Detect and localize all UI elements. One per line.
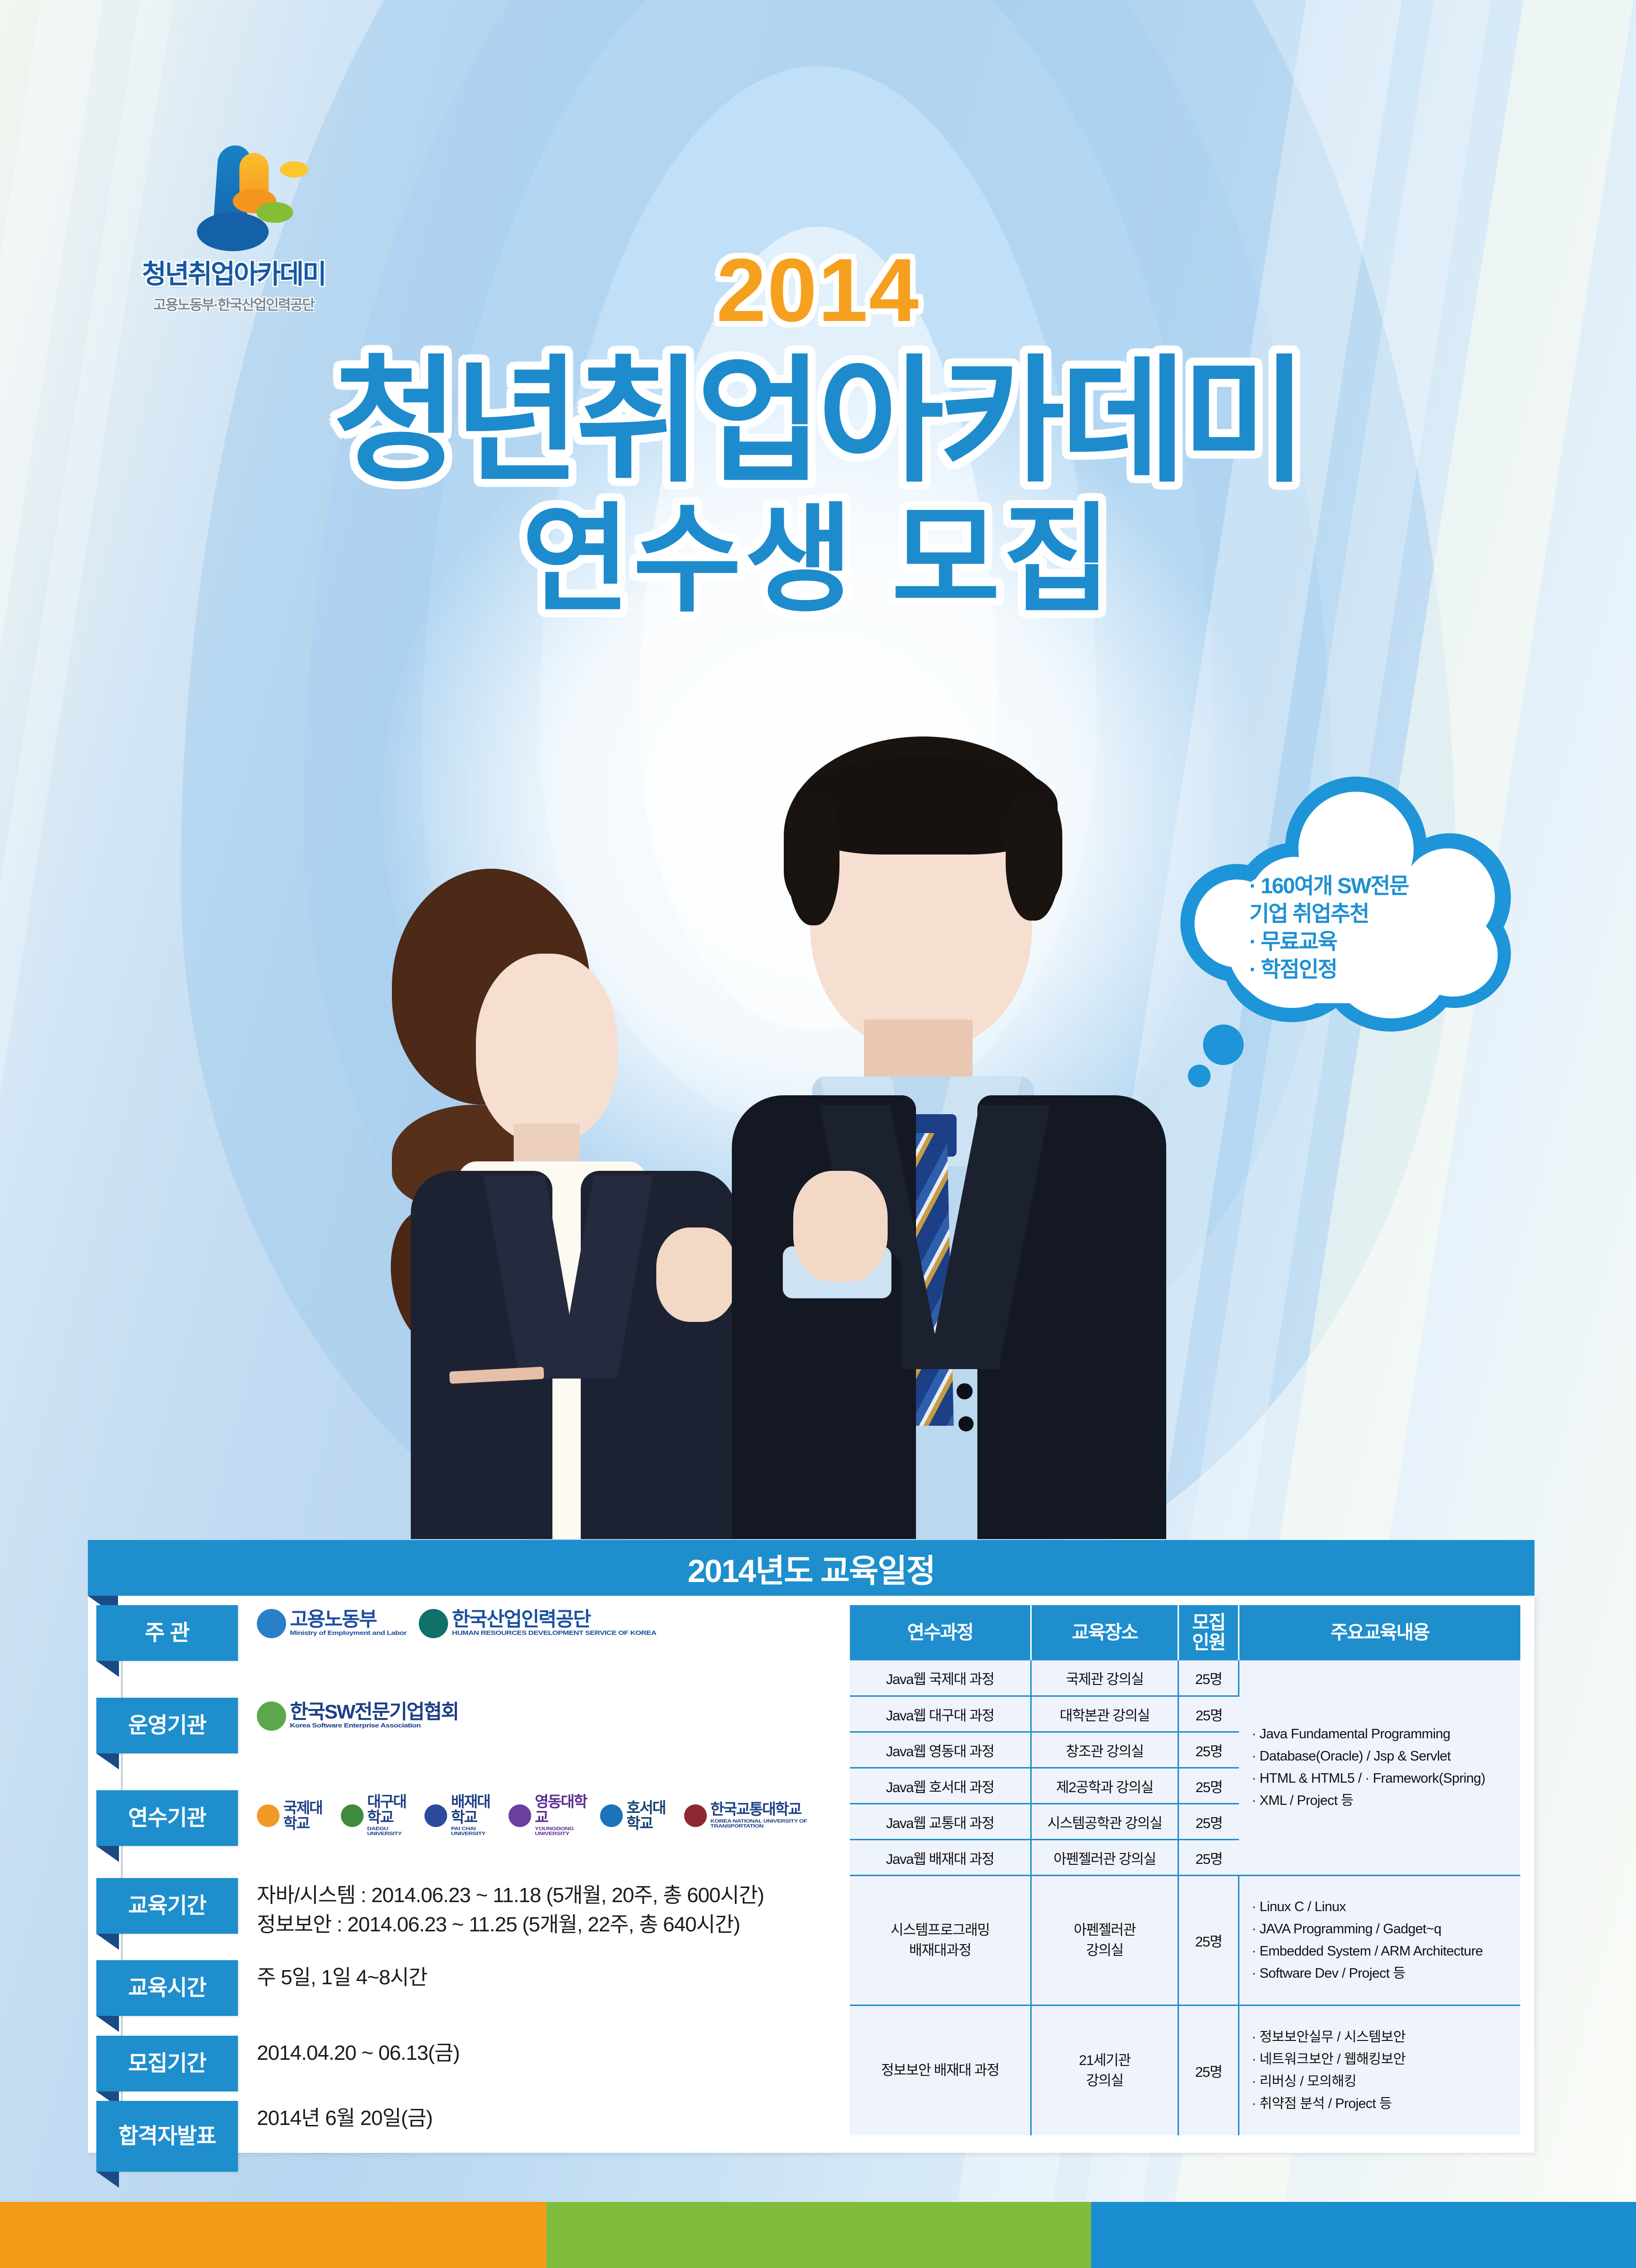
cell-course: Java웹 배재대 과정 — [850, 1840, 1031, 1876]
schedule-row: 연수기관국제대학교대구대학교DAEGU UNIVERSITY배재대학교PAI C… — [96, 1790, 823, 1846]
content-line: · JAVA Programming / Gadget~q — [1252, 1918, 1518, 1940]
organization-logo: 한국SW전문기업협회Korea Software Enterprise Asso… — [257, 1701, 458, 1731]
academy-mark-icon — [172, 142, 295, 250]
schedule-row: 모집기간2014.04.20 ~ 06.13(금) — [96, 2036, 459, 2091]
organization-name-kr: 영동대학교 — [535, 1794, 588, 1825]
organization-name-en: PAI CHAI UNIVERSITY — [451, 1826, 496, 1836]
cell-place: 시스템공학관 강의실 — [1031, 1804, 1178, 1840]
cell-place: 창조관 강의실 — [1031, 1732, 1178, 1768]
schedule-label-fold — [96, 1753, 119, 1769]
organization-badge-icon — [419, 1609, 448, 1638]
schedule-row-label: 교육기간 — [96, 1878, 238, 1934]
man-figure — [675, 736, 1176, 1539]
organization-logo: 호서대학교 — [600, 1800, 672, 1831]
organization-name-kr: 호서대학교 — [627, 1800, 672, 1831]
content-line: · HTML & HTML5 / · Framework(Spring) — [1252, 1768, 1518, 1790]
organization-badge-icon — [341, 1804, 364, 1827]
cell-capacity: 25명 — [1178, 2006, 1239, 2135]
content-line: · 네트워크보안 / 웹해킹보안 — [1252, 2048, 1518, 2071]
schedule-label-fold — [96, 1661, 119, 1677]
cell-course: Java웹 대구대 과정 — [850, 1696, 1031, 1732]
content-line: · Software Dev / Project 등 — [1252, 1963, 1518, 1985]
benefits-speech-bubble: · 160여개 SW전문 기업 취업추천 · 무료교육 · 학점인정 — [1166, 762, 1516, 1065]
col-content: 주요교육내용 — [1239, 1605, 1520, 1660]
benefit-line-2: 기업 취업추천 — [1249, 900, 1448, 928]
cell-content: · Linux C / Linux· JAVA Programming / Ga… — [1239, 1876, 1520, 2006]
organization-logo: 배재대학교PAI CHAI UNIVERSITY — [424, 1794, 496, 1837]
cell-place: 아펜젤러관 강의실 — [1031, 1840, 1178, 1876]
col-place: 교육장소 — [1031, 1605, 1178, 1660]
cell-course: Java웹 교통대 과정 — [850, 1804, 1031, 1840]
organization-name-kr: 한국교통대학교 — [711, 1802, 824, 1817]
organization-name-kr: 고용노동부 — [290, 1609, 407, 1630]
schedule-row: 합격자발표2014년 6월 20일(금) — [96, 2101, 432, 2172]
cell-place: 대학본관 강의실 — [1031, 1696, 1178, 1732]
course-table-head: 연수과정 교육장소 모집인원 주요교육내용 — [850, 1605, 1520, 1660]
schedule-value-line: 자바/시스템 : 2014.06.23 ~ 11.18 (5개월, 20주, 총… — [257, 1881, 764, 1910]
hero-year: 2014 — [0, 245, 1636, 335]
cell-capacity: 25명 — [1178, 1660, 1239, 1696]
content-line: · XML / Project 등 — [1252, 1790, 1518, 1812]
cell-place: 국제관 강의실 — [1031, 1660, 1178, 1696]
content-line: · Linux C / Linux — [1252, 1896, 1518, 1918]
benefit-line-1: · 160여개 SW전문 — [1249, 872, 1448, 900]
schedule-row: 운영기관한국SW전문기업협회Korea Software Enterprise … — [96, 1698, 458, 1753]
cell-place: 아펜젤러관강의실 — [1031, 1876, 1178, 2006]
content-line: · Database(Oracle) / Jsp & Servlet — [1252, 1745, 1518, 1768]
cell-place: 제2공학과 강의실 — [1031, 1768, 1178, 1804]
organization-logo: 한국산업인력공단HUMAN RESOURCES DEVELOPMENT SERV… — [419, 1609, 656, 1638]
schedule-value-line: 2014.04.20 ~ 06.13(금) — [257, 2039, 459, 2068]
organization-logo: 국제대학교 — [257, 1800, 329, 1831]
schedule-value-line: 2014년 6월 20일(금) — [257, 2104, 432, 2133]
schedule-row-label: 운영기관 — [96, 1698, 238, 1753]
content-line: · 리버싱 / 모의해킹 — [1252, 2071, 1518, 2093]
cell-capacity: 25명 — [1178, 1696, 1239, 1732]
hero-subtitle: 연수생 모집 — [0, 498, 1636, 622]
content-line: · 정보보안실무 / 시스템보안 — [1252, 2026, 1518, 2048]
organization-name-en: HUMAN RESOURCES DEVELOPMENT SERVICE OF K… — [452, 1631, 656, 1637]
hero-titles: 2014 청년취업아카데미 연수생 모집 — [0, 245, 1636, 622]
cell-content: · Java Fundamental Programming· Database… — [1239, 1660, 1520, 1876]
organization-name-en: KOREA NATIONAL UNIVERSITY OF TRANSPORTAT… — [711, 1819, 824, 1828]
table-row: 시스템프로그래밍배재대과정아펜젤러관강의실25명· Linux C / Linu… — [850, 1876, 1520, 2006]
organization-badge-icon — [424, 1804, 447, 1827]
organization-logo: 한국교통대학교KOREA NATIONAL UNIVERSITY OF TRAN… — [684, 1802, 824, 1829]
people-photo — [392, 736, 1195, 1539]
organization-name-kr: 한국SW전문기업협회 — [290, 1702, 458, 1722]
course-table-header-row: 연수과정 교육장소 모집인원 주요교육내용 — [850, 1605, 1520, 1660]
schedule-row-value: 자바/시스템 : 2014.06.23 ~ 11.18 (5개월, 20주, 총… — [238, 1878, 764, 1940]
schedule-row: 주 관고용노동부Ministry of Employment and Labor… — [96, 1605, 656, 1661]
schedule-row-label: 연수기관 — [96, 1790, 238, 1846]
organization-badge-icon — [600, 1804, 623, 1827]
table-row: Java웹 국제대 과정국제관 강의실25명· Java Fundamental… — [850, 1660, 1520, 1696]
bottom-color-bar — [0, 2202, 1636, 2268]
bubble-tail-large — [1203, 1024, 1244, 1065]
organization-name-en: Korea Software Enterprise Association — [290, 1723, 458, 1729]
content-line: · 취약점 분석 / Project 등 — [1252, 2093, 1518, 2115]
schedule-label-fold — [96, 2016, 119, 2032]
schedule-row: 교육시간주 5일, 1일 4~8시간 — [96, 1960, 427, 2016]
organization-name-kr: 대구대학교 — [367, 1794, 413, 1825]
bottom-bar-orange — [0, 2202, 546, 2268]
organization-logo: 고용노동부Ministry of Employment and Labor — [257, 1609, 407, 1638]
schedule-row-label: 합격자발표 — [96, 2101, 238, 2172]
page-title: 청년취업아카데미 — [0, 349, 1636, 494]
organization-name-kr: 배재대학교 — [451, 1794, 496, 1825]
schedule-row-logos: 국제대학교대구대학교DAEGU UNIVERSITY배재대학교PAI CHAI … — [238, 1790, 823, 1837]
benefits-text: · 160여개 SW전문 기업 취업추천 · 무료교육 · 학점인정 — [1249, 872, 1448, 983]
course-table: 연수과정 교육장소 모집인원 주요교육내용 Java웹 국제대 과정국제관 강의… — [850, 1605, 1520, 2135]
schedule-row-value: 2014년 6월 20일(금) — [238, 2101, 432, 2133]
organization-name-en: Ministry of Employment and Labor — [290, 1631, 407, 1637]
schedule-header-title: 2014년도 교육일정 — [687, 1545, 935, 1591]
organization-badge-icon — [257, 1804, 280, 1827]
organization-name-kr: 국제대학교 — [283, 1800, 329, 1831]
content-line: · Java Fundamental Programming — [1252, 1723, 1518, 1745]
schedule-row-label: 주 관 — [96, 1605, 238, 1661]
cell-course: 시스템프로그래밍배재대과정 — [850, 1876, 1031, 2006]
schedule-label-fold — [96, 1846, 119, 1862]
organization-logo: 영동대학교YOUNGDONG UNIVERSITY — [509, 1794, 588, 1837]
organization-name-en: DAEGU UNIVERSITY — [367, 1826, 413, 1836]
benefit-line-3: · 무료교육 — [1249, 928, 1448, 956]
organization-name-kr: 한국산업인력공단 — [452, 1609, 656, 1630]
schedule-info-list: 주 관고용노동부Ministry of Employment and Labor… — [96, 1605, 823, 2148]
cell-course: Java웹 영동대 과정 — [850, 1732, 1031, 1768]
schedule-value-line: 주 5일, 1일 4~8시간 — [257, 1963, 427, 1992]
organization-badge-icon — [684, 1804, 707, 1827]
organization-badge-icon — [257, 1701, 286, 1731]
bubble-tail-small — [1188, 1065, 1211, 1087]
schedule-row-value: 주 5일, 1일 4~8시간 — [238, 1960, 427, 1992]
organization-logo: 대구대학교DAEGU UNIVERSITY — [341, 1794, 413, 1837]
cell-course: Java웹 호서대 과정 — [850, 1768, 1031, 1804]
bottom-bar-green — [546, 2202, 1091, 2268]
col-capacity: 모집인원 — [1178, 1605, 1239, 1660]
cell-content: · 정보보안실무 / 시스템보안· 네트워크보안 / 웹해킹보안· 리버싱 / … — [1239, 2006, 1520, 2135]
schedule-row-label: 교육시간 — [96, 1960, 238, 2016]
schedule-row: 교육기간자바/시스템 : 2014.06.23 ~ 11.18 (5개월, 20… — [96, 1878, 764, 1940]
schedule-header-band: 2014년도 교육일정 — [88, 1540, 1534, 1596]
col-course: 연수과정 — [850, 1605, 1031, 1660]
cell-place: 21세기관강의실 — [1031, 2006, 1178, 2135]
cell-capacity: 25명 — [1178, 1804, 1239, 1840]
organization-badge-icon — [509, 1804, 531, 1827]
cell-capacity: 25명 — [1178, 1876, 1239, 2006]
schedule-row-value: 2014.04.20 ~ 06.13(금) — [238, 2036, 459, 2068]
organization-name-en: YOUNGDONG UNIVERSITY — [535, 1826, 588, 1836]
cell-capacity: 25명 — [1178, 1732, 1239, 1768]
cell-capacity: 25명 — [1178, 1768, 1239, 1804]
schedule-row-logos: 한국SW전문기업협회Korea Software Enterprise Asso… — [238, 1698, 458, 1731]
schedule-row-label: 모집기간 — [96, 2036, 238, 2091]
schedule-value-line: 정보보안 : 2014.06.23 ~ 11.25 (5개월, 22주, 총 6… — [257, 1910, 764, 1939]
schedule-row-logos: 고용노동부Ministry of Employment and Labor한국산… — [238, 1605, 656, 1638]
cell-course: 정보보안 배재대 과정 — [850, 2006, 1031, 2135]
bottom-bar-blue — [1091, 2202, 1636, 2268]
cell-capacity: 25명 — [1178, 1840, 1239, 1876]
benefit-line-4: · 학점인정 — [1249, 956, 1448, 983]
course-table-wrap: 연수과정 교육장소 모집인원 주요교육내용 Java웹 국제대 과정국제관 강의… — [850, 1605, 1520, 2135]
cell-course: Java웹 국제대 과정 — [850, 1660, 1031, 1696]
organization-badge-icon — [257, 1609, 286, 1638]
schedule-label-fold — [96, 1934, 119, 1950]
table-row: 정보보안 배재대 과정21세기관강의실25명· 정보보안실무 / 시스템보안· … — [850, 2006, 1520, 2135]
course-table-body: Java웹 국제대 과정국제관 강의실25명· Java Fundamental… — [850, 1660, 1520, 2135]
content-line: · Embedded System / ARM Architecture — [1252, 1940, 1518, 1963]
